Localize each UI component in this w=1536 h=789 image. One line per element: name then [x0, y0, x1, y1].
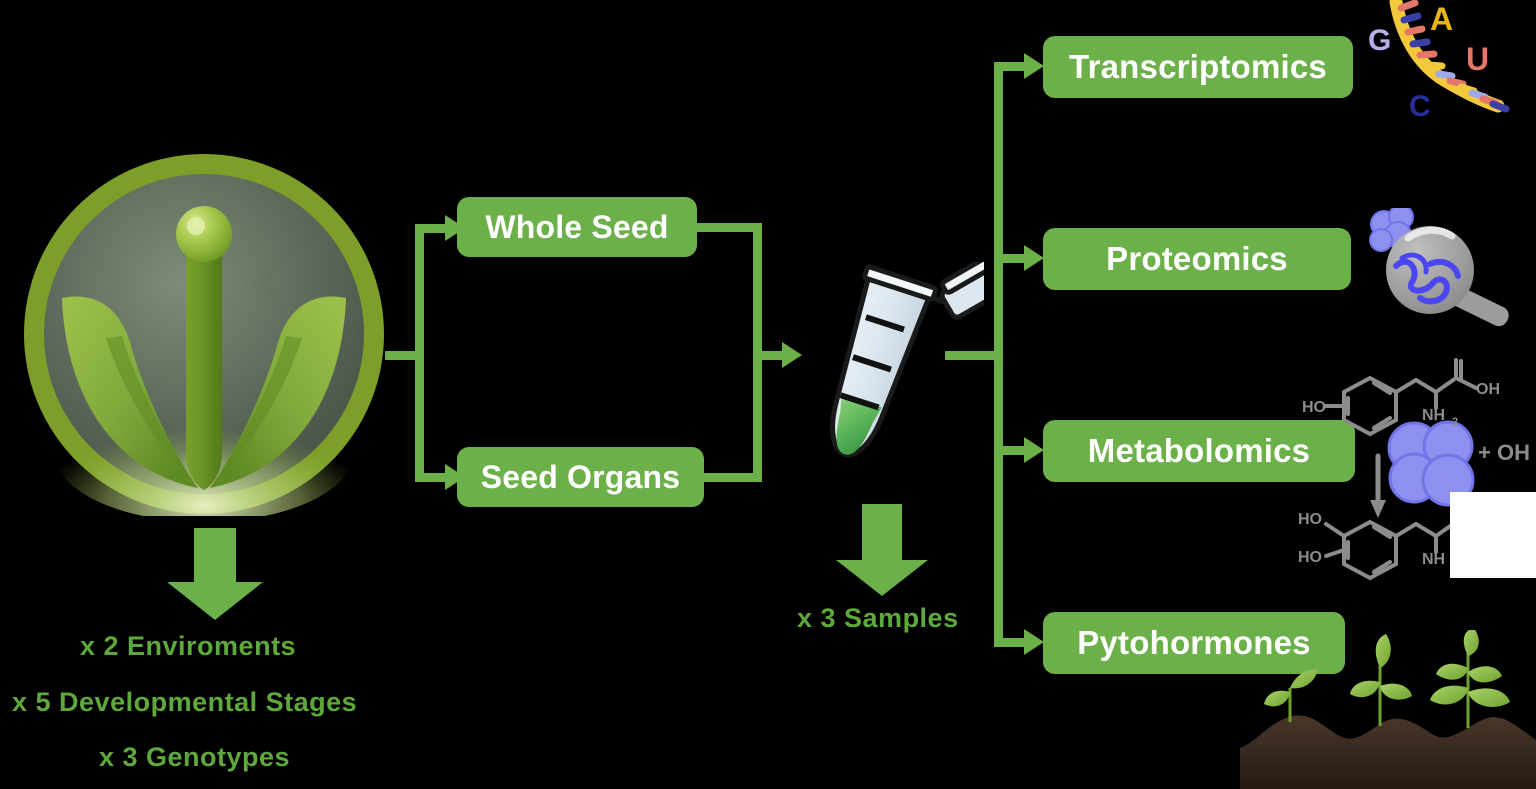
metabolite-label-ho-lower-1: HO	[1298, 511, 1322, 528]
tyrosine-reaction-icon: HO OH NH 2 HO HO OH NH 2 + OH	[1286, 352, 1536, 602]
samples-down-arrow	[836, 504, 928, 596]
arrowhead-to-transcriptomics	[1024, 53, 1044, 79]
rna-base-c: C	[1409, 90, 1431, 123]
metabolite-label-plus-oh: + OH	[1478, 440, 1530, 465]
arrowhead-to-metabolomics	[1024, 437, 1044, 463]
caption-developmental-stages: x 5 Developmental Stages	[12, 687, 357, 718]
metabolite-label-ho-upper: HO	[1302, 399, 1326, 416]
magnifying-glass-protein-icon	[1368, 208, 1536, 340]
caption-genotypes: x 3 Genotypes	[99, 742, 290, 773]
connector-to-proteomics	[994, 254, 1026, 263]
eppendorf-tube-icon	[788, 262, 984, 492]
rna-base-u: U	[1466, 41, 1489, 77]
tissue-box-seed-organs[interactable]: Seed Organs	[457, 447, 704, 507]
source-down-arrow	[160, 528, 270, 620]
tissue-box-whole-seed-label: Whole Seed	[485, 209, 668, 246]
omics-box-transcriptomics-label: Transcriptomics	[1069, 48, 1327, 86]
metabolite-label-nh2-upper-sub: 2	[1452, 416, 1458, 428]
tissue-box-seed-organs-label: Seed Organs	[481, 459, 681, 496]
arrowhead-to-pytohormones	[1024, 629, 1044, 655]
connector-to-transcriptomics	[994, 62, 1026, 71]
metabolite-white-patch	[1450, 492, 1536, 578]
seedlings-soil-icon	[1240, 630, 1536, 789]
omics-box-proteomics[interactable]: Proteomics	[1043, 228, 1351, 290]
connector-tissue-trunk	[415, 224, 424, 482]
connector-omics-trunk	[994, 62, 1003, 646]
rna-base-g1: G	[1368, 24, 1391, 57]
metabolite-label-oh-upper: OH	[1476, 381, 1500, 398]
connector-to-pytohormones	[994, 638, 1026, 647]
samples-caption: x 3 Samples	[797, 603, 959, 634]
connector-to-metabolomics	[994, 446, 1026, 455]
rna-base-a: A	[1430, 1, 1453, 37]
omics-box-transcriptomics[interactable]: Transcriptomics	[1043, 36, 1353, 98]
rna-strand-icon: G A U C	[1362, 0, 1536, 128]
connector-to-seed-organs	[415, 473, 447, 482]
tissue-box-whole-seed[interactable]: Whole Seed	[457, 197, 697, 257]
connector-whole-seed-out	[697, 223, 761, 232]
omics-box-metabolomics-label: Metabolomics	[1088, 432, 1310, 470]
metabolite-label-ho-lower-2: HO	[1298, 549, 1322, 566]
omics-box-proteomics-label: Proteomics	[1106, 240, 1288, 278]
metabolite-label-nh2-lower: NH	[1422, 551, 1445, 568]
caption-environments: x 2 Enviroments	[80, 631, 296, 662]
connector-to-whole-seed	[415, 224, 447, 233]
plant-seedling-circle-logo	[22, 152, 386, 516]
metabolite-label-nh2-upper: NH	[1422, 407, 1445, 424]
arrowhead-to-proteomics	[1024, 245, 1044, 271]
workflow-diagram: Whole Seed Seed Organs	[0, 0, 1536, 789]
